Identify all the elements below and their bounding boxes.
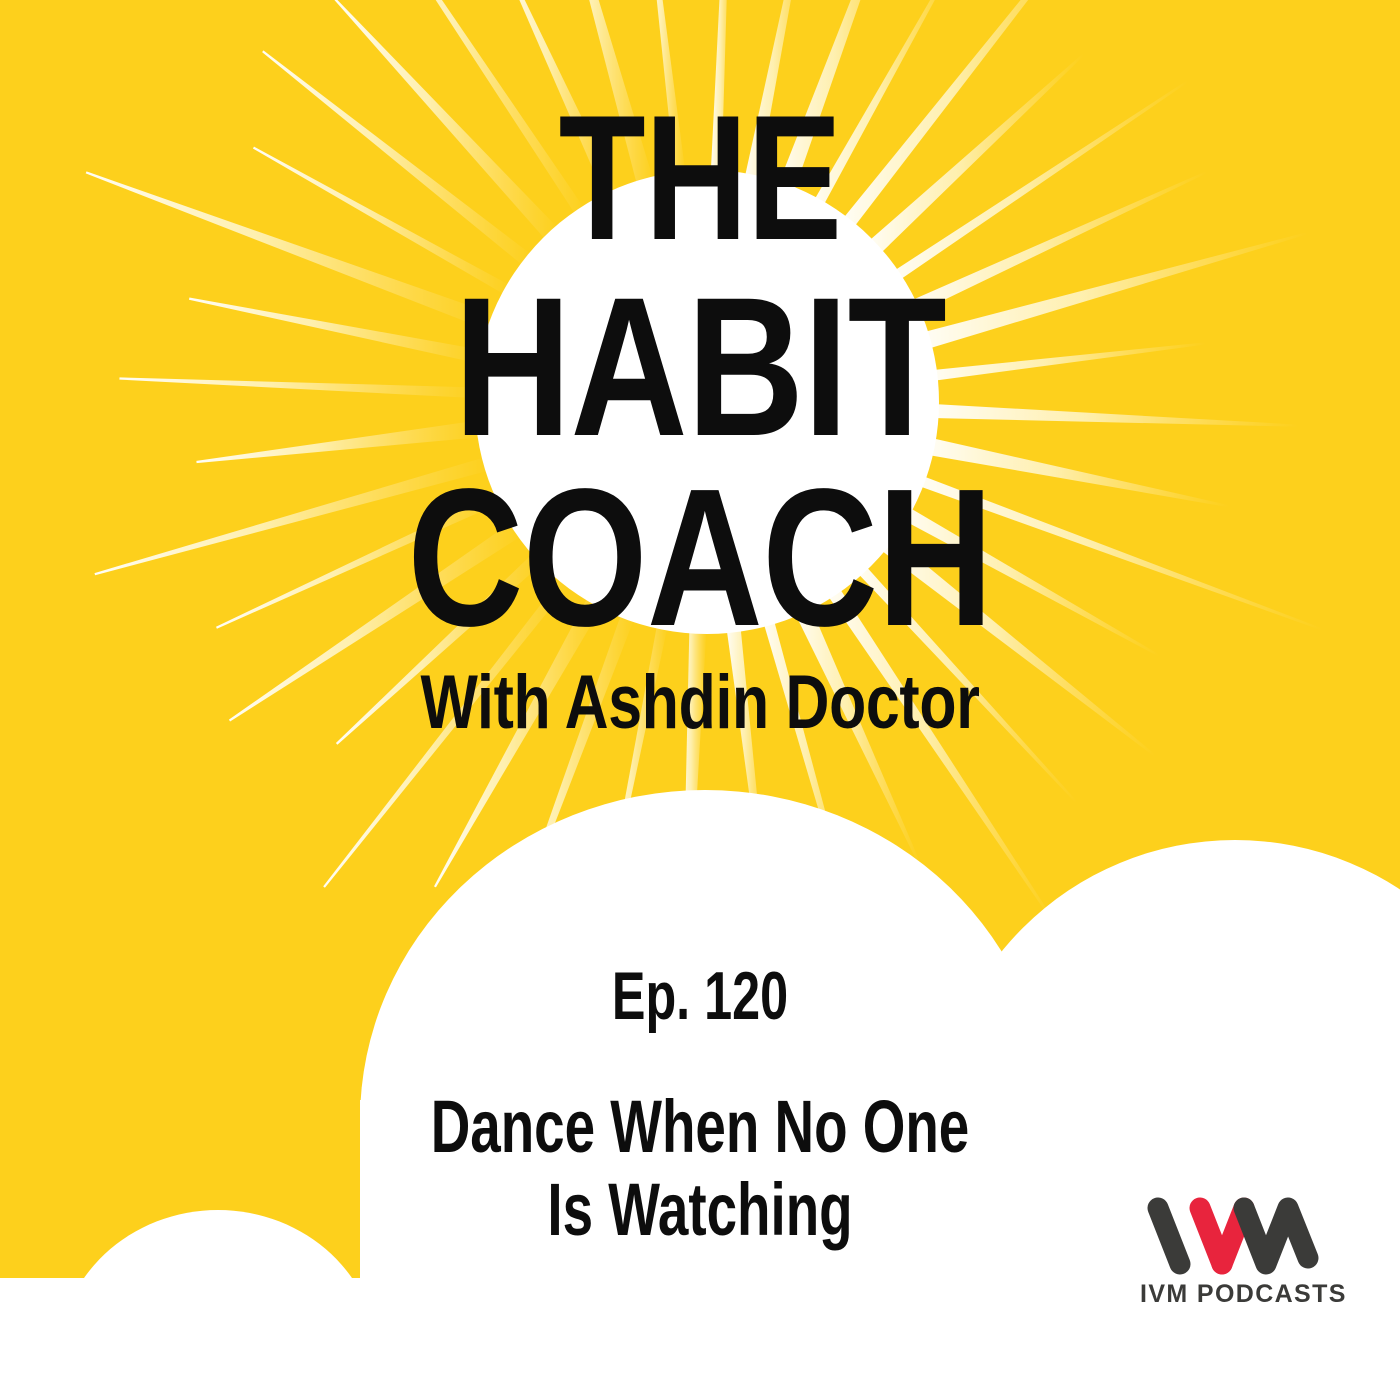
ivm-wordmark: IVM PODCASTS (1140, 1280, 1324, 1309)
artboard: THE HABIT COACH With Ashdin Doctor Ep. 1… (0, 0, 1400, 1400)
sun-circle (475, 170, 939, 634)
podcast-cover-art: THE HABIT COACH With Ashdin Doctor Ep. 1… (0, 0, 1400, 1400)
ivm-stroke-m (1244, 1208, 1308, 1264)
ivm-zigzag-icon (1140, 1196, 1324, 1276)
ivm-podcasts-logo: IVM PODCASTS (1140, 1196, 1324, 1322)
ivm-stroke-i (1158, 1208, 1180, 1264)
cover-background-graphic (0, 0, 1400, 1400)
